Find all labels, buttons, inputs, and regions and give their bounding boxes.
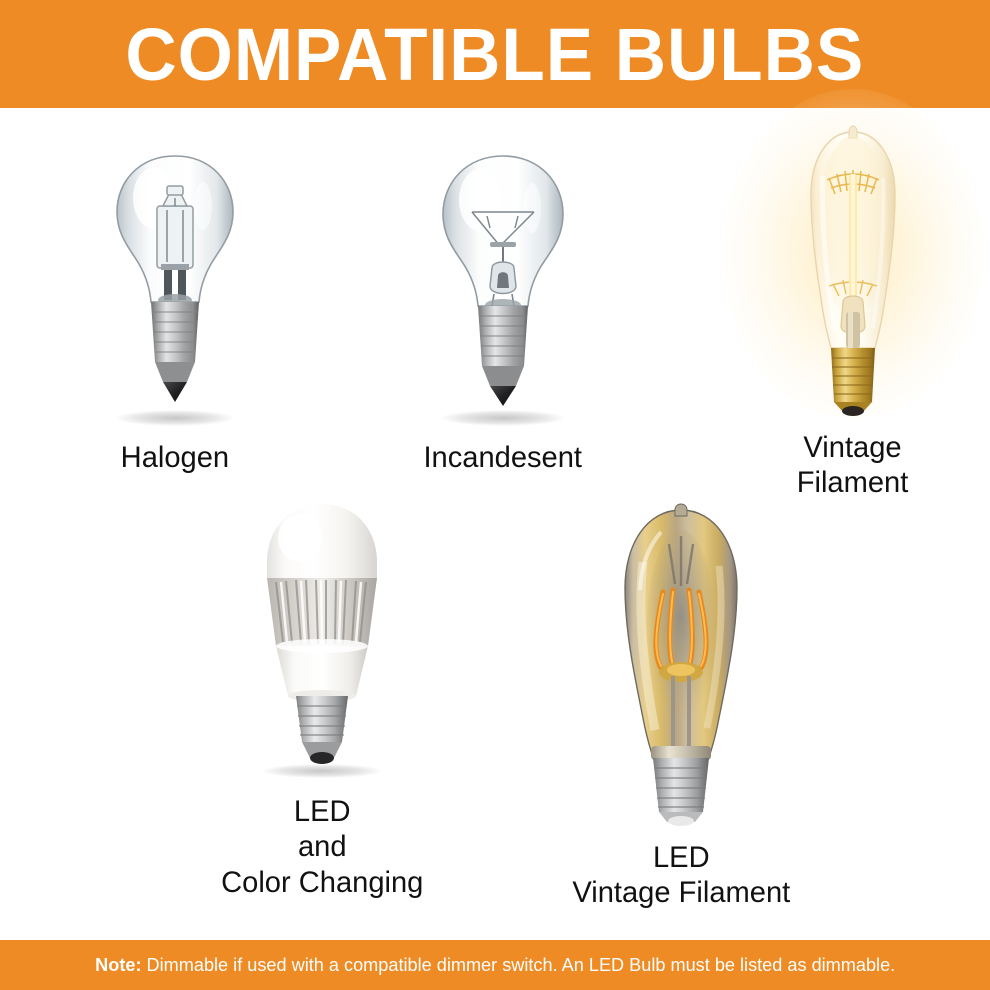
- bulb-label-led-color-changing: LED and Color Changing: [221, 794, 423, 900]
- vintage-filament-bulb-icon: [783, 116, 923, 416]
- page-title: COMPATIBLE BULBS: [126, 18, 865, 92]
- note-text: Dimmable if used with a compatible dimme…: [141, 954, 895, 975]
- bulb-card-led-color-changing: LED and Color Changing: [192, 496, 452, 900]
- led-bulb-icon: [252, 496, 392, 776]
- note-prefix: Note:: [95, 954, 141, 975]
- bulb-label-halogen: Halogen: [121, 440, 229, 475]
- led-vintage-filament-bulb-icon: [591, 496, 771, 826]
- header-bar: COMPATIBLE BULBS: [0, 0, 990, 108]
- bulb-label-vintage-filament: Vintage Filament: [797, 430, 909, 501]
- incandescent-bulb-icon: [432, 150, 574, 422]
- dimmable-note: Note: Dimmable if used with a compatible…: [95, 956, 895, 975]
- bulb-label-incandesent: Incandesent: [424, 440, 583, 475]
- bulb-card-incandesent: Incandesent: [390, 150, 616, 475]
- compatible-bulbs-infographic: COMPATIBLE BULBS: [0, 0, 990, 990]
- bulb-grid: Halogen: [0, 108, 990, 940]
- bulb-card-halogen: Halogen: [62, 150, 288, 475]
- halogen-bulb-icon: [107, 150, 243, 422]
- bulb-card-led-vintage-filament: LED Vintage Filament: [528, 496, 834, 911]
- bulb-label-led-vintage-filament: LED Vintage Filament: [572, 840, 790, 911]
- footer-note-bar: Note: Dimmable if used with a compatible…: [0, 940, 990, 990]
- bulb-card-vintage-filament: Vintage Filament: [740, 116, 966, 501]
